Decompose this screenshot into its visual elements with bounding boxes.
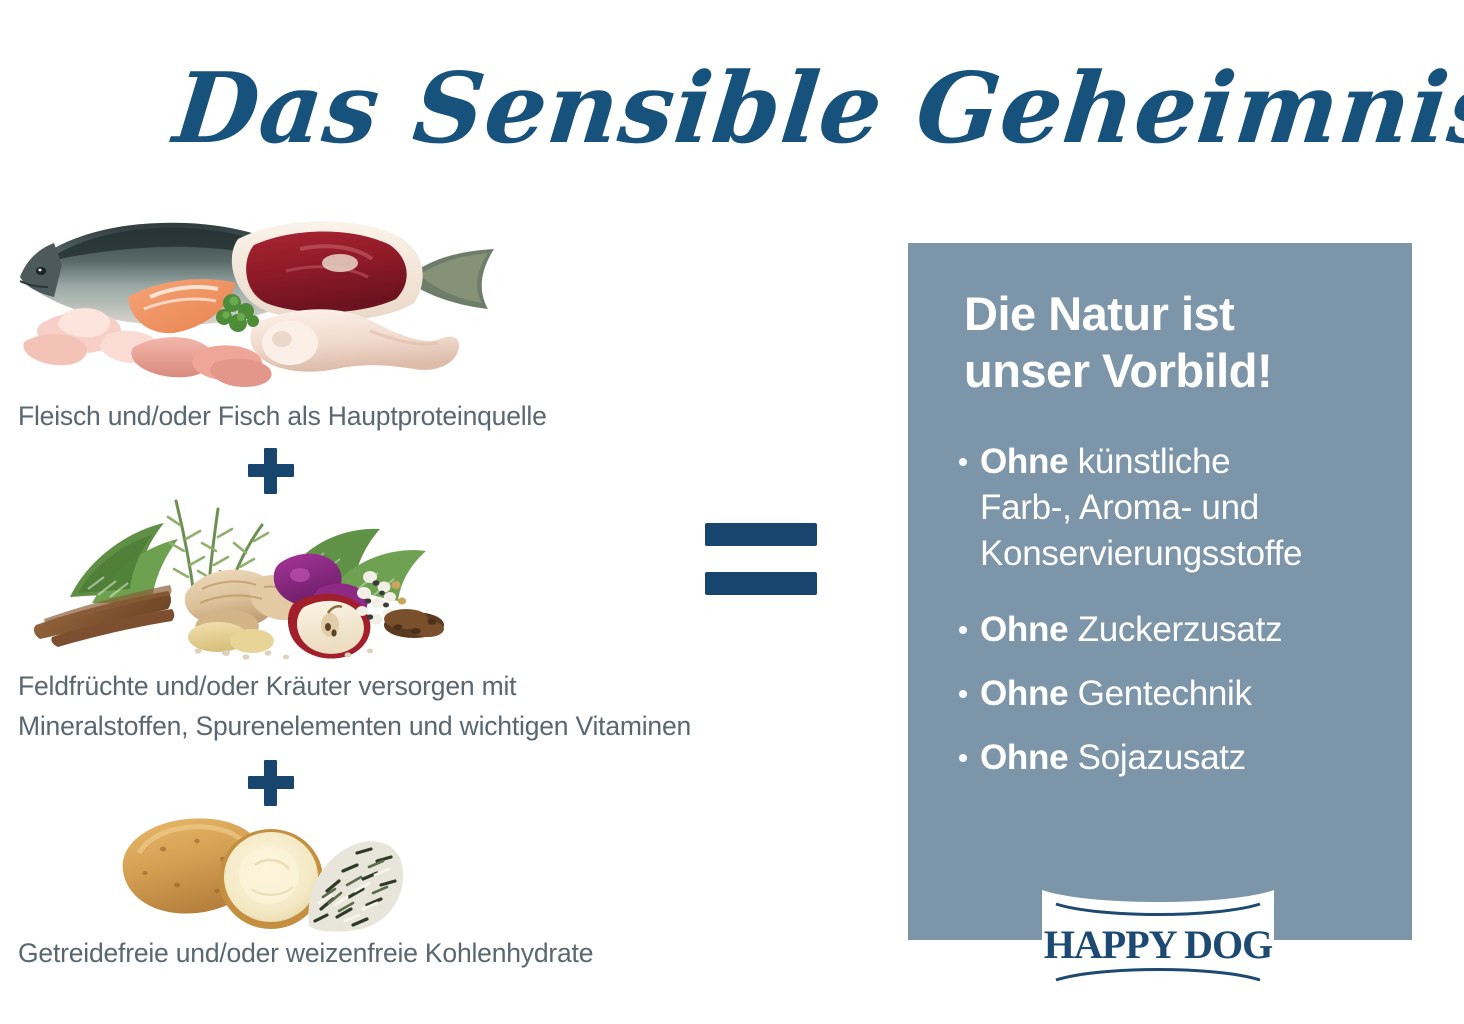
- protein-caption: Fleisch und/oder Fisch als Hauptproteinq…: [18, 398, 547, 434]
- bullet-dot-icon: [959, 690, 967, 698]
- plus-icon-2: [248, 760, 294, 806]
- bullet-item-no-artificial: Ohne künstliche Farb-, Aroma- und Konser…: [956, 439, 1406, 577]
- carbs-caption: Getreidefreie und/oder weizenfreie Kohle…: [18, 935, 593, 971]
- bullet-text: Gentechnik: [1068, 674, 1251, 713]
- bullet-text: Sojazusatz: [1068, 738, 1246, 777]
- panel-bullet-list: Ohne künstliche Farb-, Aroma- und Konser…: [956, 439, 1406, 799]
- bullet-strong: Ohne: [980, 610, 1068, 649]
- herbs-caption-line-1: Feldfrüchte und/oder Kräuter versorgen m…: [18, 668, 516, 704]
- bullet-text-line-1: künstliche: [1068, 442, 1230, 481]
- page-title: Das Sensible Geheimnis: [169, 48, 1212, 168]
- bullet-text: Zuckerzusatz: [1068, 610, 1282, 649]
- equals-icon: [705, 523, 817, 595]
- bullet-text-line-3: Konservierungsstoffe: [980, 531, 1406, 577]
- equals-bar-top: [705, 523, 817, 546]
- bullet-item-no-gmo: Ohne Gentechnik: [956, 671, 1406, 717]
- panel-heading: Die Natur ist unser Vorbild!: [964, 285, 1394, 399]
- bullet-dot-icon: [959, 458, 967, 466]
- carbs-photo: [105, 805, 405, 935]
- panel-heading-line-1: Die Natur ist: [964, 285, 1394, 342]
- bullet-strong: Ohne: [980, 738, 1068, 777]
- bullet-text-line-2: Farb-, Aroma- und: [980, 485, 1406, 531]
- equals-bar-bottom: [705, 572, 817, 595]
- bullet-strong: Ohne: [980, 674, 1068, 713]
- panel-heading-line-2: unser Vorbild!: [964, 342, 1394, 399]
- bullet-item-no-soy: Ohne Sojazusatz: [956, 735, 1406, 781]
- bullet-dot-icon: [959, 626, 967, 634]
- protein-photo: [10, 205, 520, 390]
- happy-dog-logo: HAPPY DOG: [1042, 890, 1274, 994]
- herbs-photo: [18, 485, 468, 660]
- bullet-dot-icon: [959, 754, 967, 762]
- bullet-item-no-sugar: Ohne Zuckerzusatz: [956, 607, 1406, 653]
- herbs-caption-line-2: Mineralstoffen, Spurenelementen und wich…: [18, 708, 691, 744]
- bullet-strong: Ohne: [980, 442, 1068, 481]
- infographic-root: Das Sensible Geheimnis: [0, 0, 1464, 1024]
- nature-panel: Die Natur ist unser Vorbild! Ohne künstl…: [908, 243, 1412, 940]
- logo-wordmark: HAPPY DOG: [1044, 922, 1273, 967]
- ingredients-column: Fleisch und/oder Fisch als Hauptproteinq…: [0, 190, 740, 990]
